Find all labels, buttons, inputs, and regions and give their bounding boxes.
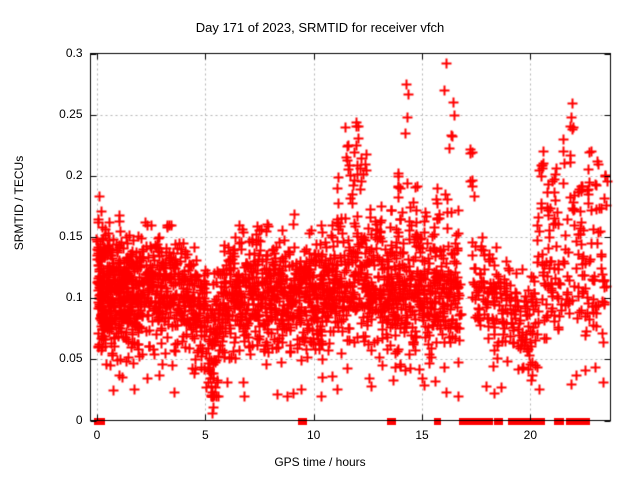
x-tick-label: 20 <box>510 428 550 442</box>
x-tick-label: 5 <box>185 428 225 442</box>
plot-canvas <box>0 0 640 480</box>
x-tick-label: 15 <box>402 428 442 442</box>
y-tick-label: 0 <box>76 413 83 427</box>
y-tick-label: 0.05 <box>59 351 82 365</box>
x-tick-label: 0 <box>77 428 117 442</box>
x-tick-label: 10 <box>294 428 334 442</box>
y-tick-label: 0.15 <box>59 229 82 243</box>
y-tick-label: 0.3 <box>66 46 83 60</box>
y-tick-label: 0.25 <box>59 107 82 121</box>
x-axis-label: GPS time / hours <box>0 455 640 469</box>
y-tick-label: 0.1 <box>66 290 83 304</box>
chart-container: Day 171 of 2023, SRMTID for receiver vfc… <box>0 0 640 480</box>
y-tick-label: 0.2 <box>66 168 83 182</box>
